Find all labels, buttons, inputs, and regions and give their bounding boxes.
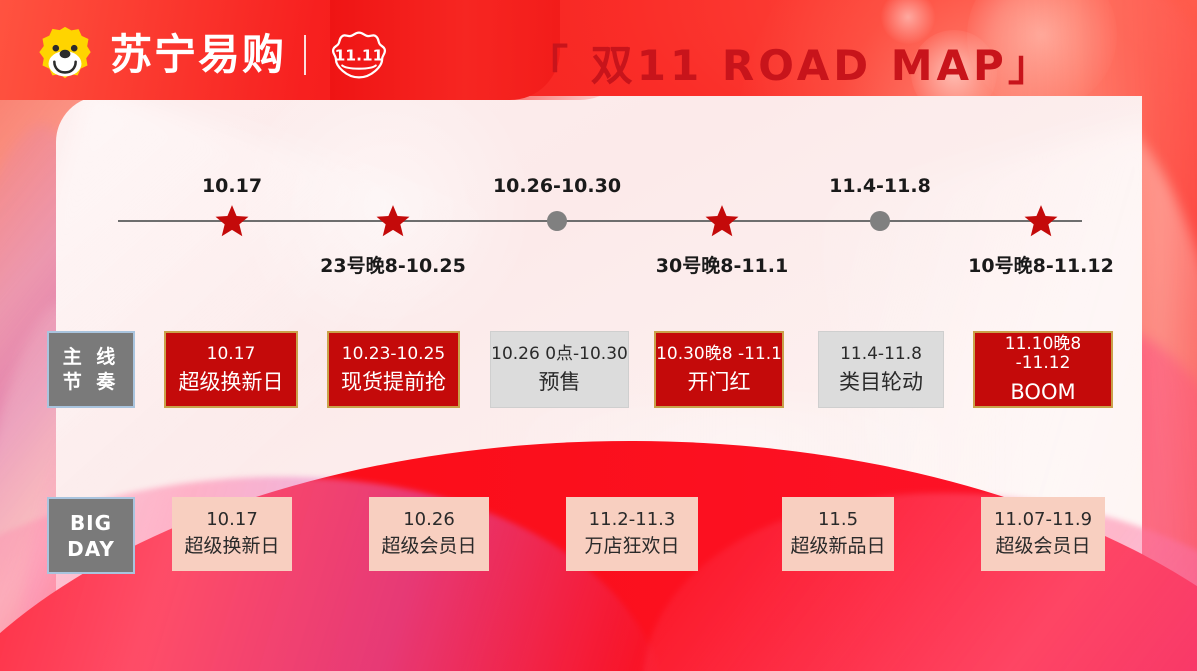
schedule-card[interactable]: 11.2-11.3万店狂欢日: [566, 497, 698, 571]
schedule-card[interactable]: 11.10晚8 -11.12BOOM: [973, 331, 1113, 408]
card-date: 10.30晚8 -11.1: [656, 345, 782, 365]
card-date: 11.07-11.9: [994, 510, 1092, 531]
row-label-main-rhythm: 主 线 节 奏: [47, 331, 135, 408]
schedule-card[interactable]: 10.26超级会员日: [369, 497, 489, 571]
schedule-card[interactable]: 11.4-11.8类目轮动: [818, 331, 944, 408]
brand-name: 苏宁易购: [110, 34, 286, 76]
slide-canvas: 苏宁易购 11.11 「 双11 ROAD MAP」 10.1723号晚8-10…: [0, 0, 1197, 671]
card-title: 超级新品日: [790, 536, 885, 558]
card-date: 10.26: [403, 510, 455, 531]
card-title: 超级换新日: [184, 536, 279, 558]
schedule-card[interactable]: 11.5超级新品日: [782, 497, 894, 571]
card-title: 类目轮动: [839, 370, 923, 394]
card-date: 11.5: [818, 510, 858, 531]
row-label-line2: DAY: [67, 538, 115, 560]
card-date: 11.4-11.8: [840, 345, 922, 365]
card-date: 11.2-11.3: [589, 510, 676, 531]
schedule-card[interactable]: 11.07-11.9超级会员日: [981, 497, 1105, 571]
card-date: 10.23-10.25: [342, 345, 445, 365]
card-title: 现货提前抢: [341, 370, 446, 394]
logo-divider: [304, 35, 306, 75]
card-date: 11.10晚8 -11.12: [975, 335, 1111, 374]
card-title: 开门红: [688, 370, 751, 394]
brand-logo: 苏宁易购 11.11: [34, 24, 394, 86]
row-label-big-day: BIG DAY: [47, 497, 135, 574]
row-label-line1: BIG: [70, 512, 112, 534]
card-title: 万店狂欢日: [584, 536, 679, 558]
card-date: 10.17: [206, 510, 258, 531]
schedule-card[interactable]: 10.23-10.25现货提前抢: [327, 331, 460, 408]
card-title: 超级会员日: [995, 536, 1090, 558]
card-title: 超级会员日: [381, 536, 476, 558]
schedule-card[interactable]: 10.17超级换新日: [164, 331, 298, 408]
card-date: 10.17: [207, 345, 256, 365]
card-date: 10.26 0点-10.30: [491, 345, 628, 365]
card-title: 超级换新日: [179, 370, 284, 394]
schedule-card[interactable]: 10.30晚8 -11.1开门红: [654, 331, 784, 408]
svg-text:11.11: 11.11: [335, 47, 384, 65]
row-label-line1: 主 线: [63, 347, 120, 368]
page-title: 「 双11 ROAD MAP」: [500, 32, 1080, 93]
card-title: BOOM: [1010, 380, 1075, 404]
row-label-line2: 节 奏: [63, 372, 120, 393]
schedule-card[interactable]: 10.17超级换新日: [172, 497, 292, 571]
card-title: 预售: [539, 370, 581, 394]
lion-mascot-icon: [34, 24, 96, 86]
schedule-card[interactable]: 10.26 0点-10.30预售: [490, 331, 629, 408]
double-eleven-badge-icon: 11.11: [324, 29, 394, 81]
